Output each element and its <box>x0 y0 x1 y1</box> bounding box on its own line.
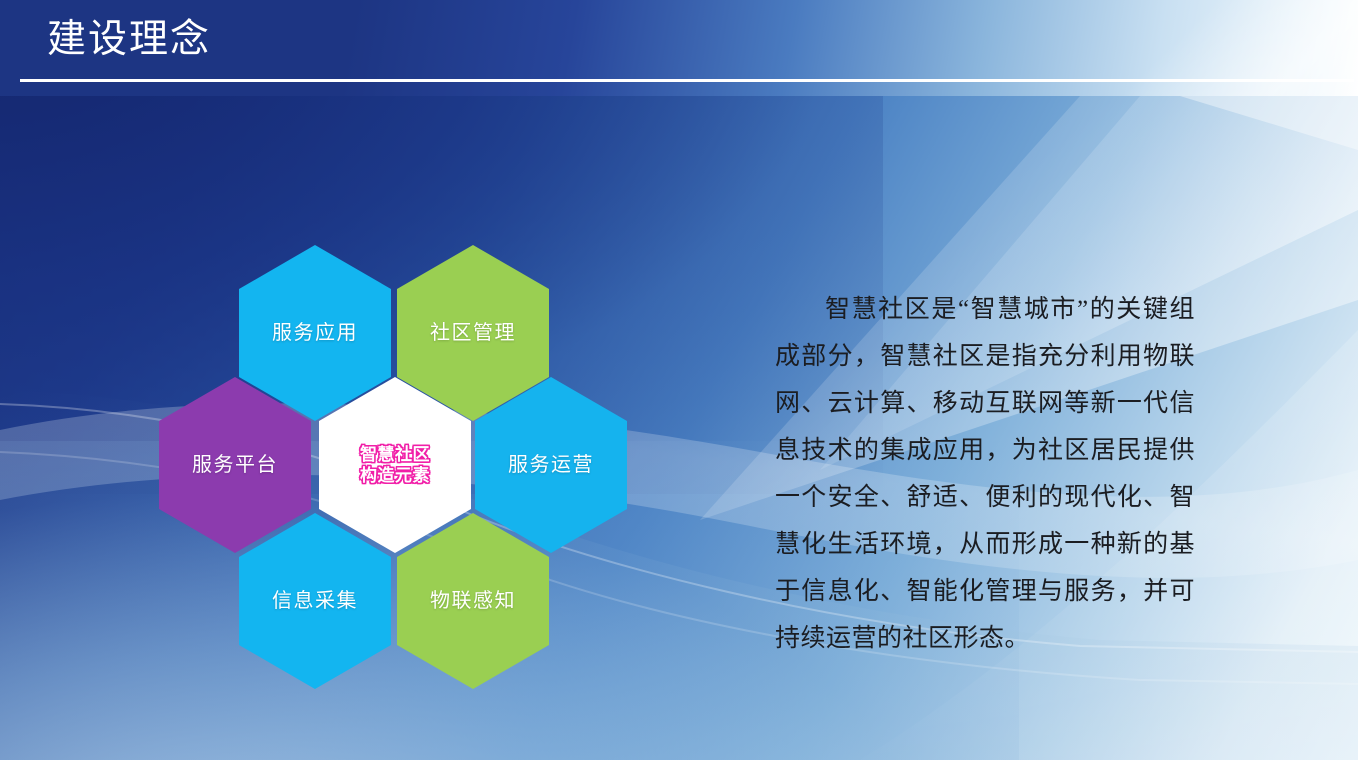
hex-label-service-operation: 服务运营 <box>508 452 594 478</box>
slide-canvas: 建设理念 服务应用 社区管理 服务平台 智慧社区 构造元素 服务运营 信息采集 … <box>0 0 1358 760</box>
hex-label-service-application: 服务应用 <box>272 320 358 346</box>
body-paragraph: 智慧社区是“智慧城市”的关键组成部分，智慧社区是指充分利用物联网、云计算、移动互… <box>775 286 1195 662</box>
hex-label-information-collection: 信息采集 <box>272 588 358 614</box>
hex-label-iot-sensing: 物联感知 <box>430 588 516 614</box>
hex-information-collection[interactable]: 信息采集 <box>239 513 391 689</box>
hex-label-center: 智慧社区 构造元素 <box>360 444 430 486</box>
hex-label-community-management: 社区管理 <box>430 320 516 346</box>
hex-iot-sensing[interactable]: 物联感知 <box>397 513 549 689</box>
hex-label-service-platform: 服务平台 <box>192 452 278 478</box>
